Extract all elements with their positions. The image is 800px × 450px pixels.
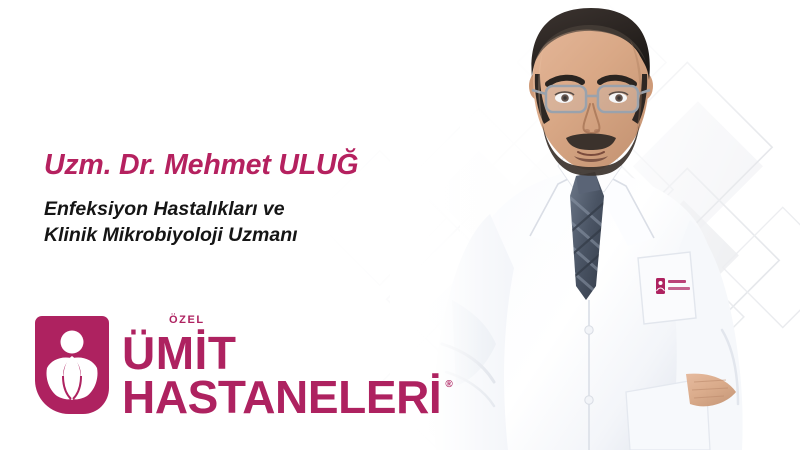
- specialty-line-1: Enfeksiyon Hastalıkları ve: [44, 197, 464, 223]
- logo-word-hastaneleri-text: HASTANELERİ: [122, 371, 441, 423]
- tulip-person-icon: [35, 316, 109, 414]
- banner-canvas: Uzm. Dr. Mehmet ULUĞ Enfeksiyon Hastalık…: [0, 0, 800, 450]
- specialty-line-2: Klinik Mikrobiyoloji Uzmanı: [44, 223, 464, 249]
- hospital-logo[interactable]: ÖZEL ÜMİT HASTANELERİ ®: [35, 316, 441, 420]
- logo-wordmark: ÖZEL ÜMİT HASTANELERİ ®: [122, 316, 441, 420]
- logo-word-hastaneleri: HASTANELERİ ®: [122, 376, 441, 419]
- trademark-symbol: ®: [445, 380, 452, 390]
- doctor-name: Uzm. Dr. Mehmet ULUĞ: [44, 150, 464, 181]
- doctor-specialty: Enfeksiyon Hastalıkları ve Klinik Mikrob…: [44, 197, 464, 248]
- logo-prefix: ÖZEL: [169, 315, 205, 326]
- text-block: Uzm. Dr. Mehmet ULUĞ Enfeksiyon Hastalık…: [44, 150, 464, 249]
- logo-word-umit: ÜMİT: [122, 332, 441, 374]
